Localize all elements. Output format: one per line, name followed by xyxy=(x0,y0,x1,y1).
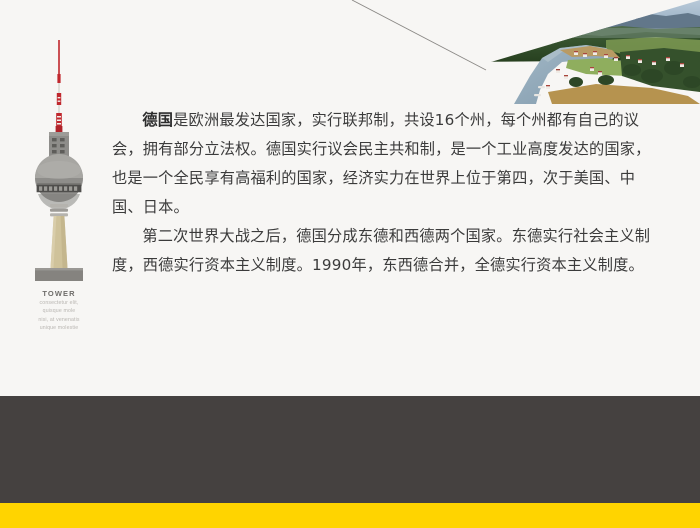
paragraph-1-text: 是欧洲最发达国家，实行联邦制，共设16个州，每个州都有自己的议会，拥有部分立法权… xyxy=(112,111,651,216)
paragraph-2-text: 第二次世界大战之后，德国分成东德和西德两个国家。东德实行社会主义制度，西德实行资… xyxy=(112,227,650,274)
tower-caption: TOWER consectetur elit, quisque mole nis… xyxy=(16,288,102,332)
tower-caption-line-2: quisque mole xyxy=(16,308,102,315)
tower-caption-line-3: nisi, at venenatis xyxy=(16,317,102,324)
body-copy: 德国是欧洲最发达国家，实行联邦制，共设16个州，每个州都有自己的议会，拥有部分立… xyxy=(112,106,664,280)
tower-caption-title: TOWER xyxy=(16,288,102,299)
tower-caption-line-1: consectetur elit, xyxy=(16,300,102,307)
footer-dark-bar xyxy=(0,396,700,503)
berlin-tv-tower-illustration xyxy=(8,18,110,286)
paragraph-2: 第二次世界大战之后，德国分成东德和西德两个国家。东德实行社会主义制度，西德实行资… xyxy=(112,222,664,280)
paragraph-1-lead: 德国 xyxy=(142,111,173,129)
paragraph-1: 德国是欧洲最发达国家，实行联邦制，共设16个州，每个州都有自己的议会，拥有部分立… xyxy=(112,106,664,222)
slide-root: TOWER consectetur elit, quisque mole nis… xyxy=(0,0,700,528)
tower-illustration-block: TOWER consectetur elit, quisque mole nis… xyxy=(8,18,110,348)
footer-accent-bar xyxy=(0,503,700,528)
tower-caption-line-4: unique molestie xyxy=(16,325,102,332)
